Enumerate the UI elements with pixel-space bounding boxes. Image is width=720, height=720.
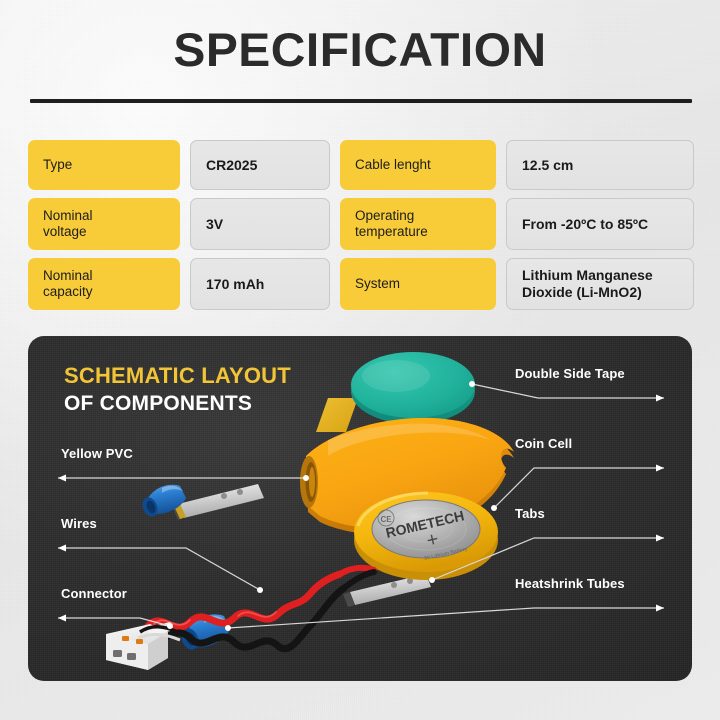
spec-key-nominal-capacity: Nominal capacity xyxy=(28,258,180,310)
key-line-1: Nominal xyxy=(43,208,93,223)
spec-value-nominal-capacity: 170 mAh xyxy=(190,258,330,310)
spec-table-left: Type CR2025 Nominal voltage 3V Nominal c… xyxy=(28,140,330,318)
table-row: Cable lenght 12.5 cm xyxy=(340,140,694,190)
schematic-panel: SCHEMATIC LAYOUT OF COMPONENTS xyxy=(28,336,692,681)
spec-key-operating-temperature: Operating temperature xyxy=(340,198,496,250)
spec-key-nominal-voltage: Nominal voltage xyxy=(28,198,180,250)
table-row: Nominal voltage 3V xyxy=(28,198,330,250)
label-connector: Connector xyxy=(61,586,127,601)
header-divider xyxy=(30,99,692,103)
table-row: Operating temperature From -20ºC to 85ºC xyxy=(340,198,694,250)
spec-table-right: Cable lenght 12.5 cm Operating temperatu… xyxy=(340,140,694,318)
spec-value-cable-length: 12.5 cm xyxy=(506,140,694,190)
spec-value-label: 170 mAh xyxy=(206,276,264,293)
table-row: Nominal capacity 170 mAh xyxy=(28,258,330,310)
label-yellow-pvc: Yellow PVC xyxy=(61,446,133,461)
label-double-side-tape: Double Side Tape xyxy=(515,366,625,381)
spec-value-label: 12.5 cm xyxy=(522,157,573,174)
table-row: Type CR2025 xyxy=(28,140,330,190)
value-line-2: Dioxide (Li-MnO2) xyxy=(522,284,642,300)
key-line-1: Operating xyxy=(355,208,414,223)
spec-value-label: CR2025 xyxy=(206,157,257,174)
key-line-2: voltage xyxy=(43,224,87,239)
label-wires: Wires xyxy=(61,516,97,531)
key-line-2: capacity xyxy=(43,284,93,299)
key-line-1: Nominal xyxy=(43,268,93,283)
spec-value-type: CR2025 xyxy=(190,140,330,190)
spec-key-cable-length: Cable lenght xyxy=(340,140,496,190)
spec-key-system: System xyxy=(340,258,496,310)
key-line-2: temperature xyxy=(355,224,428,239)
label-coin-cell: Coin Cell xyxy=(515,436,572,451)
spec-key-label: System xyxy=(355,276,400,292)
spec-value-nominal-voltage: 3V xyxy=(190,198,330,250)
spec-key-label: Nominal voltage xyxy=(43,208,93,240)
spec-value-operating-temperature: From -20ºC to 85ºC xyxy=(506,198,694,250)
value-line-1: Lithium Manganese xyxy=(522,267,653,283)
spec-value-system: Lithium Manganese Dioxide (Li-MnO2) xyxy=(506,258,694,310)
page-header: SPECIFICATION xyxy=(0,26,720,73)
spec-key-label: Type xyxy=(43,157,72,173)
page-title: SPECIFICATION xyxy=(0,26,720,73)
spec-key-label: Operating temperature xyxy=(355,208,428,240)
schematic-labels: Yellow PVC Wires Connector Double Side T… xyxy=(28,336,692,681)
spec-value-label: From -20ºC to 85ºC xyxy=(522,216,648,233)
spec-key-type: Type xyxy=(28,140,180,190)
spec-key-label: Cable lenght xyxy=(355,157,431,173)
label-heatshrink-tubes: Heatshrink Tubes xyxy=(515,576,625,591)
table-row: System Lithium Manganese Dioxide (Li-MnO… xyxy=(340,258,694,310)
spec-value-label: 3V xyxy=(206,216,223,233)
spec-value-label: Lithium Manganese Dioxide (Li-MnO2) xyxy=(522,267,653,301)
label-tabs: Tabs xyxy=(515,506,545,521)
spec-key-label: Nominal capacity xyxy=(43,268,93,300)
